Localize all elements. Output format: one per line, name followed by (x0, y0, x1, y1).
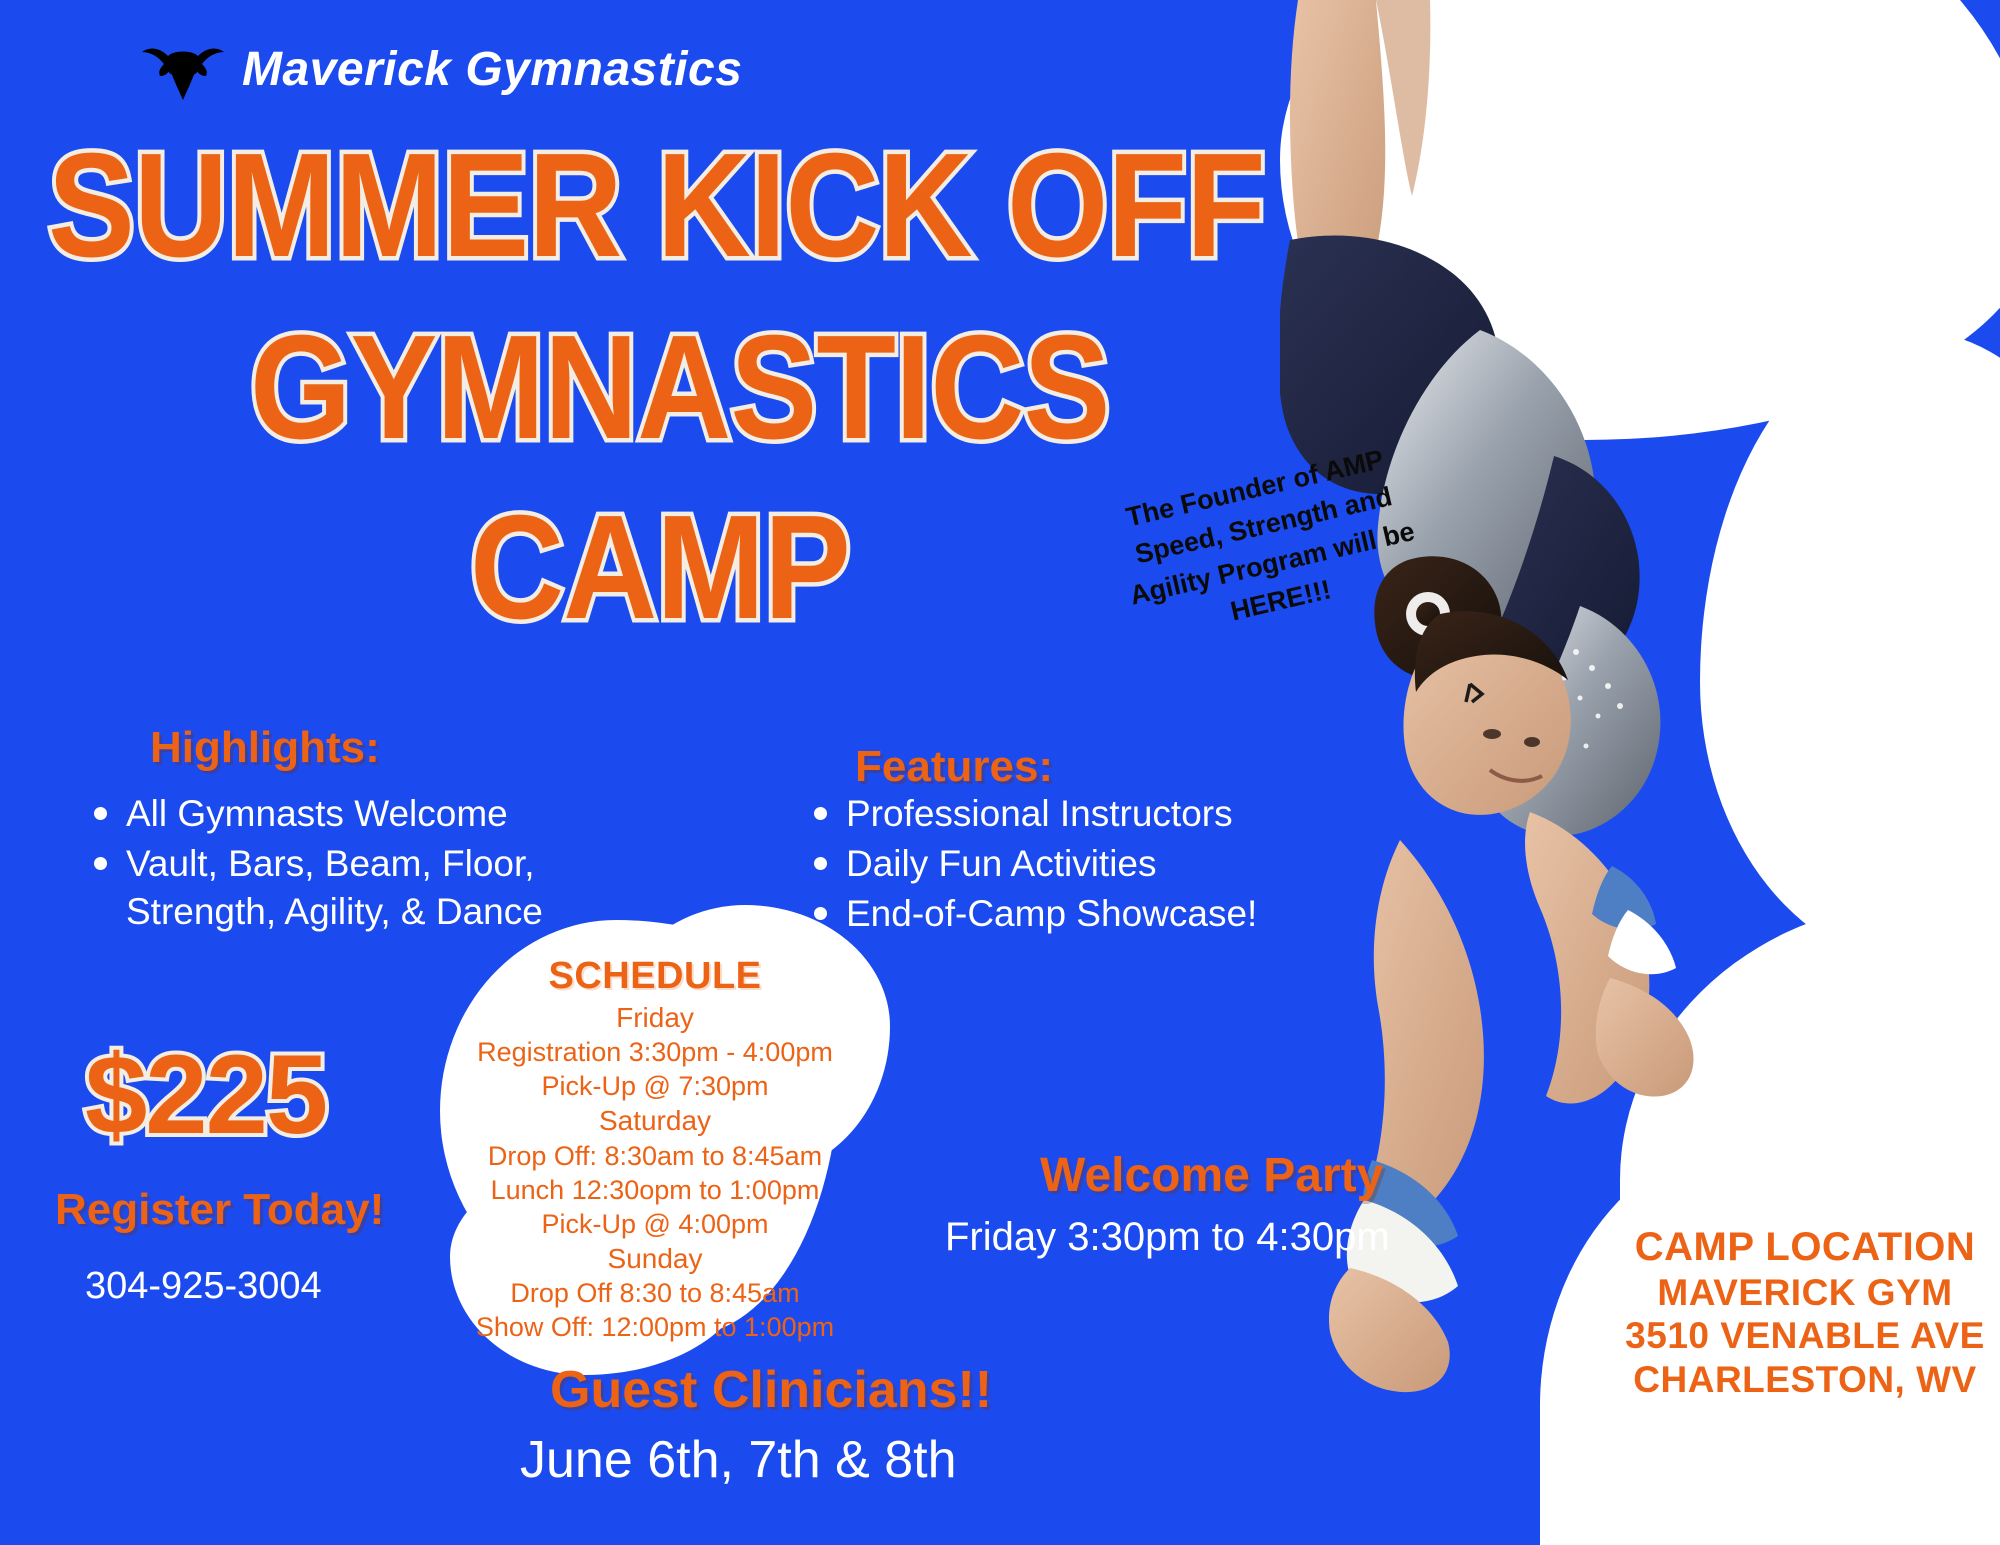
price-amount: $225 (85, 1030, 326, 1159)
phone-number[interactable]: 304-925-3004 (85, 1265, 322, 1308)
features-heading: Features: (855, 742, 1053, 792)
list-item: End-of-Camp Showcase! (846, 890, 1316, 938)
schedule-row: Drop Off 8:30 to 8:45am (460, 1276, 850, 1310)
schedule-heading: SCHEDULE (460, 955, 850, 998)
list-item: All Gymnasts Welcome (126, 790, 646, 838)
schedule-row: Drop Off: 8:30am to 8:45am (460, 1139, 850, 1173)
flyer-canvas: Maverick Gymnastics SUMMER KICK OFF GYMN… (0, 0, 2000, 1545)
title-line-3: CAMP (470, 500, 850, 636)
highlights-list: All Gymnasts Welcome Vault, Bars, Beam, … (80, 790, 646, 938)
schedule-day-label: Sunday (460, 1241, 850, 1276)
brand-name: Maverick Gymnastics (242, 42, 742, 97)
schedule-row: Pick-Up @ 7:30pm (460, 1069, 850, 1103)
camp-location-city-state: CHARLESTON, WV (1620, 1358, 1990, 1402)
longhorn-bull-icon (140, 38, 226, 100)
schedule-day-label: Saturday (460, 1103, 850, 1138)
welcome-party-heading: Welcome Party (1040, 1148, 1383, 1203)
camp-location-heading: CAMP LOCATION (1620, 1225, 1990, 1271)
title-line-2: GYMNASTICS (250, 320, 1110, 456)
schedule-row: Show Off: 12:00pm to 1:00pm (460, 1310, 850, 1344)
schedule-row: Lunch 12:30opm to 1:00pm (460, 1173, 850, 1207)
camp-location-street: 3510 VENABLE AVE (1620, 1314, 1990, 1358)
list-item: Vault, Bars, Beam, Floor, Strength, Agil… (126, 840, 646, 936)
camp-location-block: CAMP LOCATION MAVERICK GYM 3510 VENABLE … (1620, 1225, 1990, 1402)
schedule-row: Pick-Up @ 4:00pm (460, 1207, 850, 1241)
guest-clinicians-dates: June 6th, 7th & 8th (520, 1430, 957, 1490)
schedule-row: Registration 3:30pm - 4:00pm (460, 1035, 850, 1069)
guest-clinicians-heading: Guest Clinicians!! (550, 1360, 992, 1420)
register-cta[interactable]: Register Today! (55, 1185, 384, 1235)
camp-location-venue: MAVERICK GYM (1620, 1271, 1990, 1315)
list-item: Professional Instructors (846, 790, 1316, 838)
features-list: Professional Instructors Daily Fun Activ… (800, 790, 1316, 940)
welcome-party-details: Friday 3:30pm to 4:30pm (945, 1215, 1390, 1260)
title-line-1: SUMMER KICK OFF (48, 138, 1265, 274)
schedule-block: SCHEDULE Friday Registration 3:30pm - 4:… (460, 955, 850, 1344)
list-item: Daily Fun Activities (846, 840, 1316, 888)
schedule-day-label: Friday (460, 1000, 850, 1035)
brand-logo: Maverick Gymnastics (140, 38, 742, 100)
highlights-heading: Highlights: (150, 723, 380, 773)
gymnast-photo (1280, 0, 2000, 1400)
